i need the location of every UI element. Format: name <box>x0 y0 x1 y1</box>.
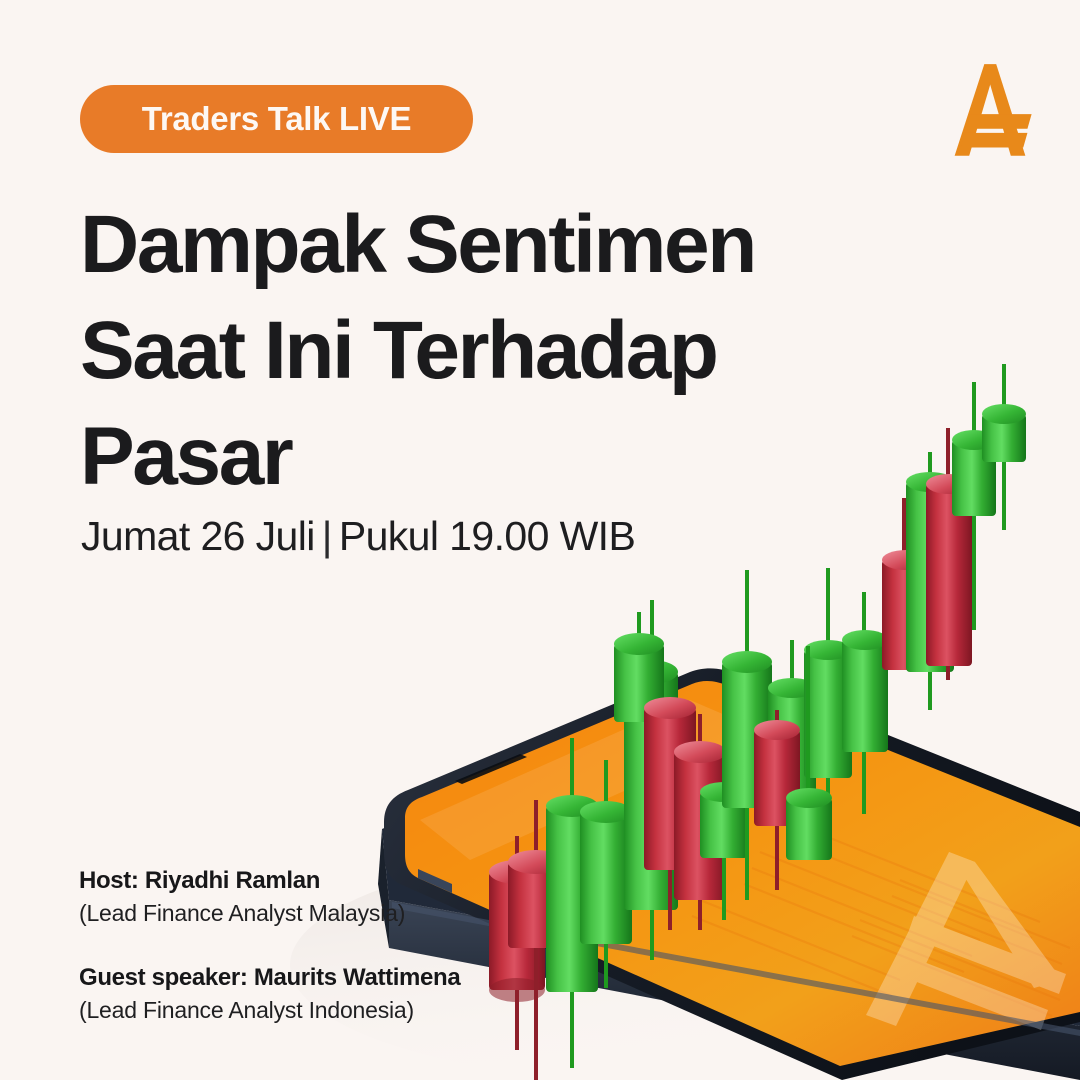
guest-name: Guest speaker: Maurits Wattimena <box>79 963 460 993</box>
brand-logo <box>938 58 1042 162</box>
headline-line-2: Saat Ini Terhadap <box>80 298 840 404</box>
headline-line-3: Pasar <box>80 404 840 510</box>
poster-canvas: Traders Talk LIVE Dampak Sentimen Saat I… <box>0 0 1080 1080</box>
host-credit: Host: Riyadhi Ramlan (Lead Finance Analy… <box>79 866 460 929</box>
host-role: (Lead Finance Analyst Malaysia) <box>79 898 460 929</box>
live-badge[interactable]: Traders Talk LIVE <box>80 85 473 153</box>
event-datetime: Jumat 26 Juli|Pukul 19.00 WIB <box>81 513 635 560</box>
ascendex-a-logo-icon <box>938 58 1042 162</box>
guest-credit: Guest speaker: Maurits Wattimena (Lead F… <box>79 963 460 1026</box>
datetime-separator: | <box>322 513 332 560</box>
headline-line-1: Dampak Sentimen <box>80 192 840 298</box>
host-name: Host: Riyadhi Ramlan <box>79 866 460 896</box>
event-time: Pukul 19.00 WIB <box>339 513 635 559</box>
page-title: Dampak Sentimen Saat Ini Terhadap Pasar <box>80 192 840 510</box>
live-badge-label: Traders Talk LIVE <box>142 100 411 138</box>
guest-role: (Lead Finance Analyst Indonesia) <box>79 995 460 1026</box>
event-date: Jumat 26 Juli <box>81 513 315 559</box>
speaker-credits: Host: Riyadhi Ramlan (Lead Finance Analy… <box>79 866 460 1026</box>
